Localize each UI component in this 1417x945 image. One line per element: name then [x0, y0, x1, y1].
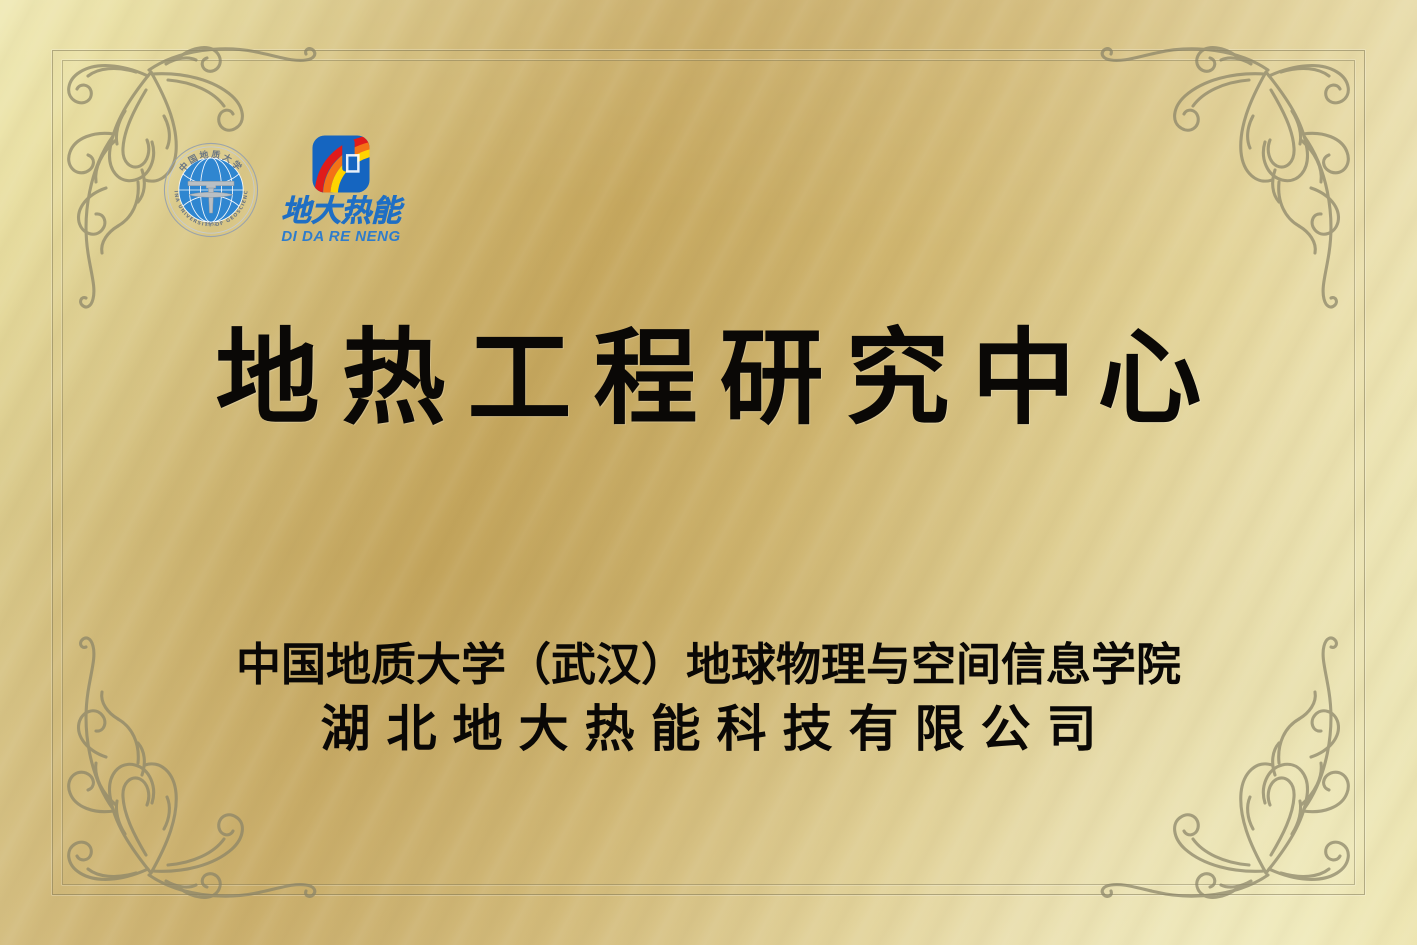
- company-logo: 地大热能 DI DA RE NENG: [281, 133, 401, 247]
- corner-ornament-top-right-icon: [1099, 10, 1399, 310]
- plaque-title: 地热工程研究中心: [0, 323, 1417, 433]
- didareneng-mark-icon: [310, 133, 372, 195]
- plaque-subtitle-university: 中国地质大学（武汉）地球物理与空间信息学院: [0, 640, 1417, 690]
- china-university-of-geosciences-seal-icon: 中国地质大学 CHINA UNIVERSITY OF GEOSCIENCES 1…: [163, 142, 259, 238]
- logo-group: 中国地质大学 CHINA UNIVERSITY OF GEOSCIENCES 1…: [163, 133, 401, 247]
- seal-year: 1952: [205, 222, 217, 228]
- plaque-subtitle-company: 湖北地大热能科技有限公司: [0, 702, 1417, 757]
- award-plaque: 中国地质大学 CHINA UNIVERSITY OF GEOSCIENCES 1…: [0, 0, 1417, 945]
- company-logo-text-cn: 地大热能: [281, 197, 401, 227]
- company-logo-text-en: DI DA RE NENG: [281, 227, 400, 247]
